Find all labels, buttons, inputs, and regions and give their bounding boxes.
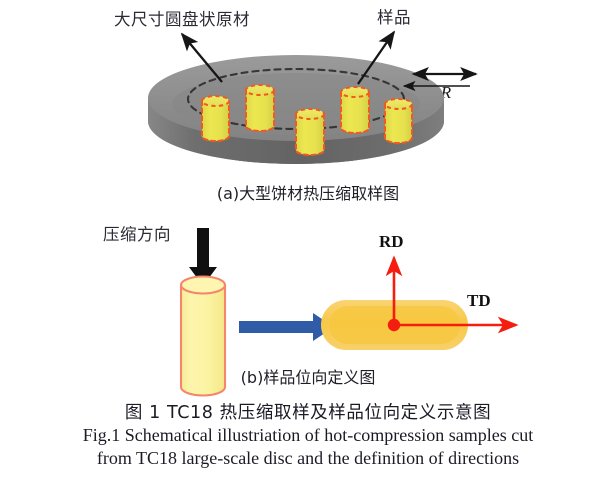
transform-arrow-icon <box>239 313 334 341</box>
caption-english: Fig.1 Schematical illustriation of hot-c… <box>0 424 616 470</box>
caption-chinese: 图 1 TC18 热压缩取样及样品位向定义示意图 <box>0 399 616 424</box>
caption-english-line-1: Fig.1 Schematical illustriation of hot-c… <box>0 424 616 447</box>
figure-root: 大尺寸圆盘状原材 样品 1/2R <box>0 0 616 493</box>
nd-origin-dot <box>388 319 400 331</box>
figure-caption: 图 1 TC18 热压缩取样及样品位向定义示意图 Fig.1 Schematic… <box>0 399 616 470</box>
subcaption-panel-b: (b)样品位向定义图 <box>0 364 616 388</box>
caption-english-line-2: from TC18 large-scale disc and the defin… <box>0 447 616 470</box>
